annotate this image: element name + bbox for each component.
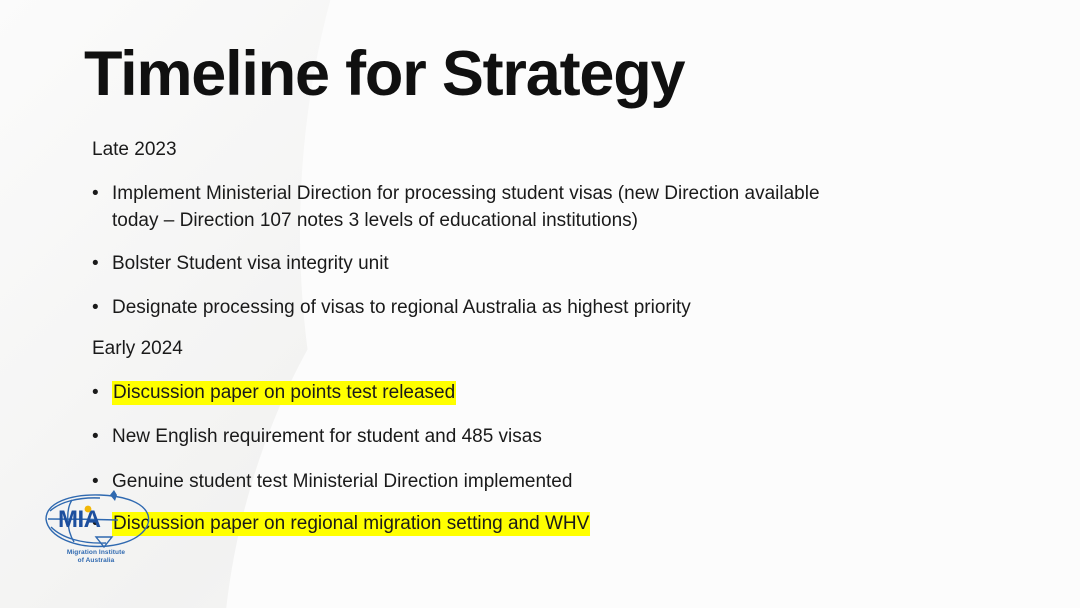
- bullet-point-icon: •: [92, 180, 112, 207]
- page-title: Timeline for Strategy: [84, 40, 684, 108]
- mia-logo-caption: Migration Institute of Australia: [26, 549, 166, 565]
- list-item: • Bolster Student visa integrity unit: [92, 250, 389, 277]
- list-item-text: Genuine student test Ministerial Directi…: [112, 468, 572, 495]
- list-item-text: New English requirement for student and …: [112, 423, 542, 450]
- svg-text:MIA: MIA: [58, 506, 101, 533]
- section-heading-early-2024: Early 2024: [92, 338, 183, 360]
- highlighted-text: Discussion paper on points test released: [112, 381, 456, 405]
- mia-caption-line-2: of Australia: [26, 557, 166, 565]
- bullet-point-icon: •: [92, 250, 112, 277]
- presentation-slide: Timeline for Strategy Late 2023 • Implem…: [0, 0, 1080, 608]
- list-item-text-highlighted: Discussion paper on points test released: [112, 379, 456, 406]
- bullet-point-icon: •: [92, 379, 112, 406]
- list-item: • Discussion paper on regional migration…: [92, 510, 590, 537]
- list-item-text-highlighted: Discussion paper on regional migration s…: [112, 510, 590, 537]
- highlighted-text: Discussion paper on regional migration s…: [112, 512, 590, 536]
- list-item: • Discussion paper on points test releas…: [92, 379, 456, 406]
- list-item: • Implement Ministerial Direction for pr…: [92, 180, 822, 234]
- list-item-text: Bolster Student visa integrity unit: [112, 250, 389, 277]
- bullet-point-icon: •: [92, 423, 112, 450]
- list-item-text: Implement Ministerial Direction for proc…: [112, 180, 822, 234]
- list-item-text: Designate processing of visas to regiona…: [112, 294, 691, 321]
- list-item: • Designate processing of visas to regio…: [92, 294, 691, 321]
- australia-outline-icon: MIA: [26, 489, 166, 555]
- section-heading-late-2023: Late 2023: [92, 139, 177, 161]
- mia-caption-line-1: Migration Institute: [26, 549, 166, 557]
- slide-content: Timeline for Strategy Late 2023 • Implem…: [0, 0, 1080, 608]
- bullet-point-icon: •: [92, 294, 112, 321]
- list-item: • New English requirement for student an…: [92, 423, 542, 450]
- mia-logo: MIA Migration Institute of Australia: [26, 489, 166, 581]
